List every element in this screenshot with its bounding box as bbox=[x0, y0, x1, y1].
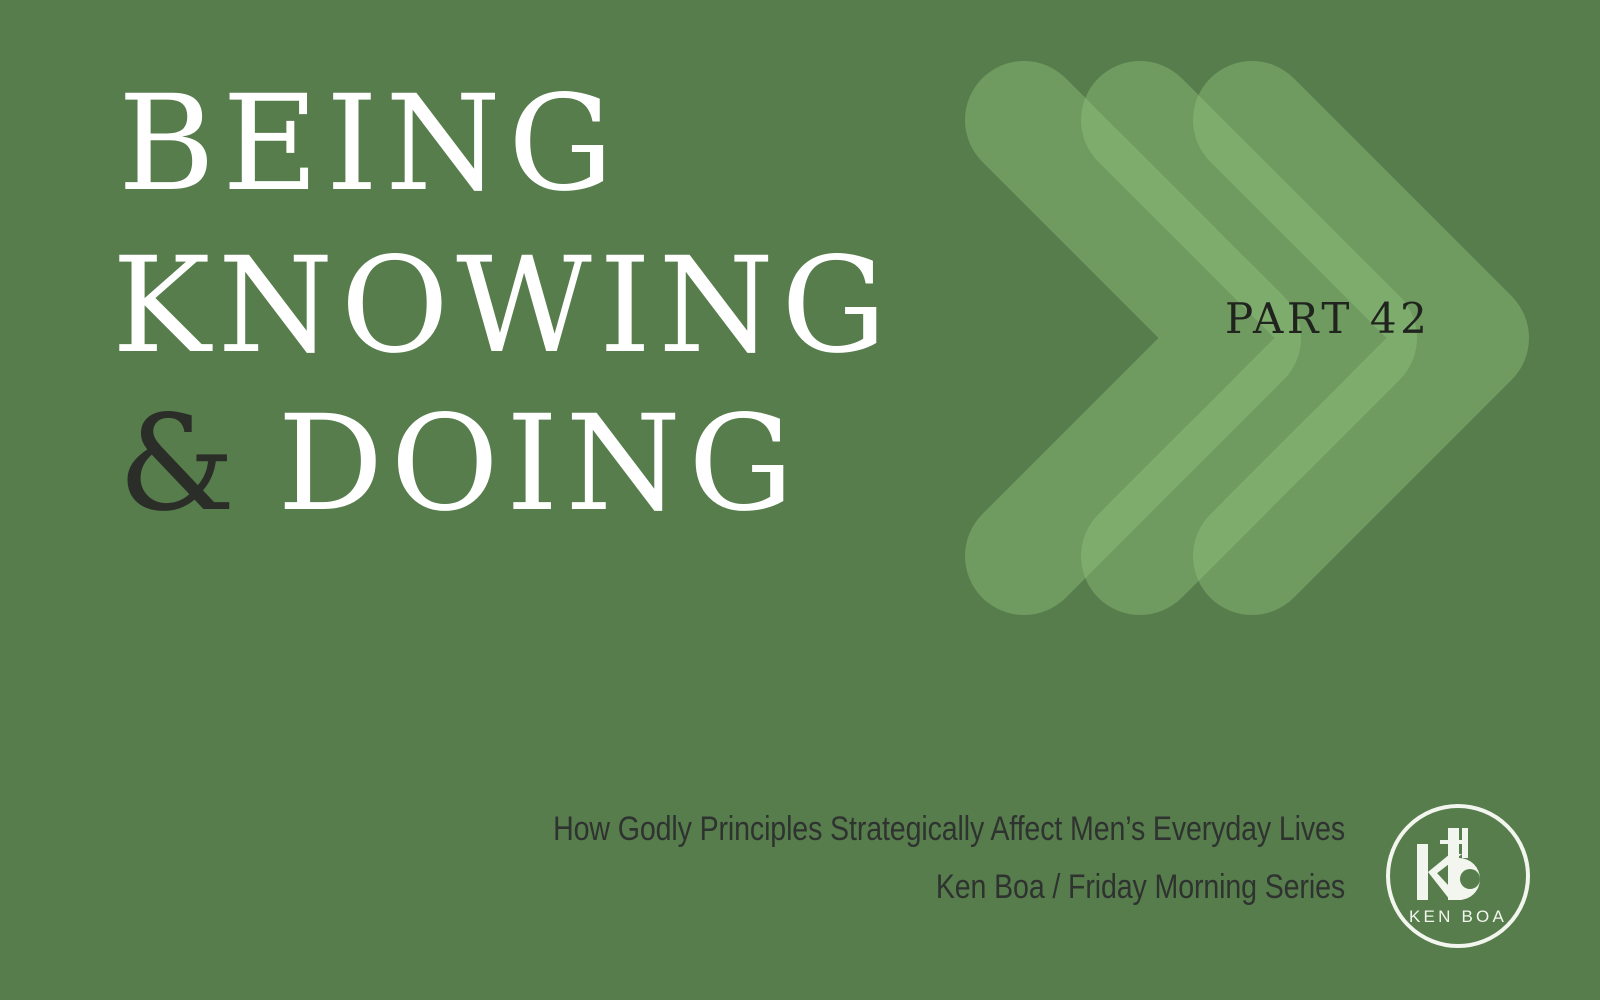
footer-tagline: How Godly Principles Strategically Affec… bbox=[215, 800, 1345, 858]
title-line-doing: DOING bbox=[278, 398, 801, 530]
chevron-1 bbox=[1024, 120, 1242, 556]
logo-monogram-kb bbox=[1417, 828, 1480, 900]
title-block: BEING KNOWING & DOING bbox=[0, 0, 1040, 560]
title-line-doing-row: & DOING bbox=[118, 398, 801, 530]
footer-byline: Ken Boa / Friday Morning Series bbox=[215, 858, 1345, 916]
presentation-slide: BEING KNOWING & DOING PART 42 How Godly … bbox=[0, 0, 1600, 1000]
logo-wordmark: KEN BOA bbox=[1409, 907, 1507, 926]
ken-boa-logo: KEN BOA bbox=[1382, 800, 1534, 952]
title-line-knowing: KNOWING bbox=[112, 240, 894, 372]
footer-text-block: How Godly Principles Strategically Affec… bbox=[0, 800, 1345, 917]
ampersand-glyph: & bbox=[118, 398, 236, 530]
title-line-being: BEING bbox=[118, 78, 621, 210]
part-badge: PART 42 bbox=[1225, 298, 1430, 340]
